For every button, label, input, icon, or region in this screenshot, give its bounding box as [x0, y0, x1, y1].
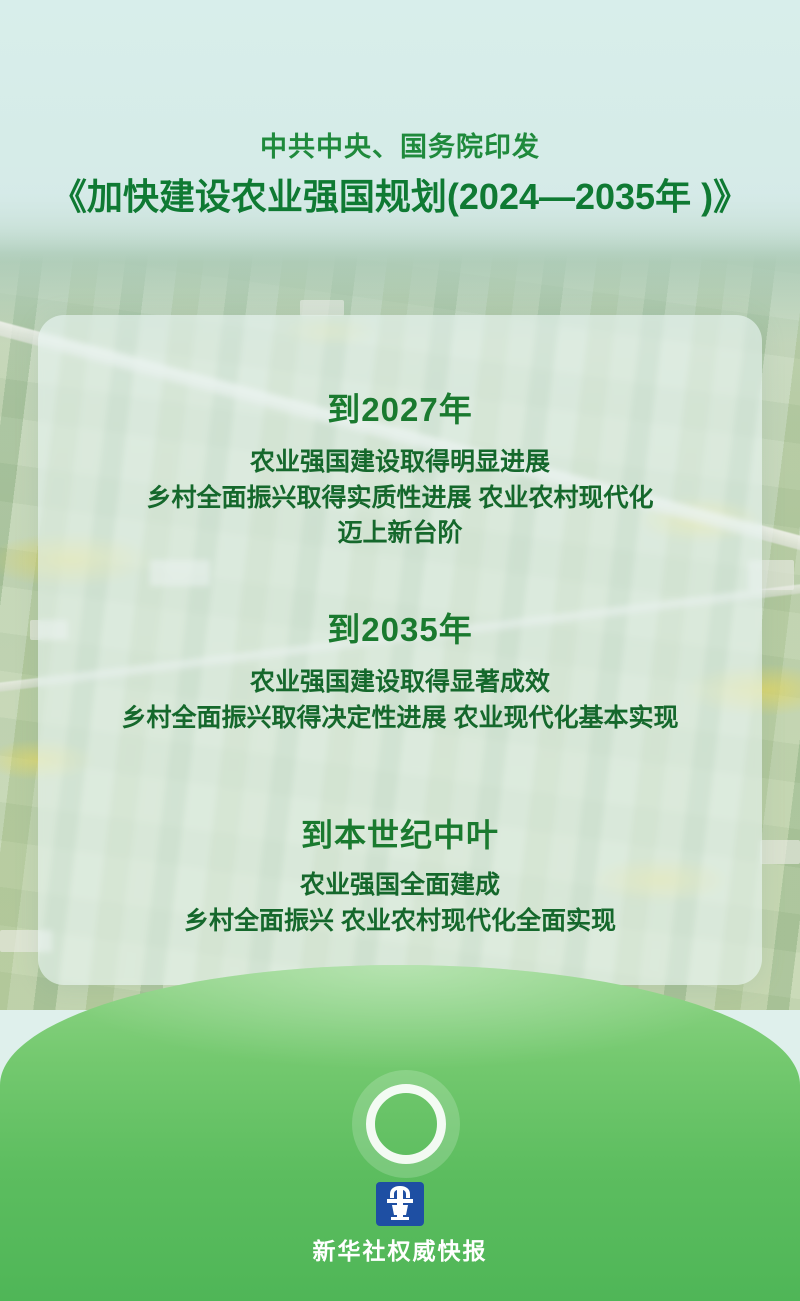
milestone-line: 农业强国建设取得显著成效	[38, 665, 762, 701]
kicker-text: 中共中央、国务院印发	[0, 133, 800, 163]
milestone-title: 到2027年	[38, 383, 762, 431]
poster-root: 中共中央、国务院印发 《加快建设农业强国规划(2024—2035年 )》 到20…	[0, 0, 800, 1301]
page-title: 《加快建设农业强国规划(2024—2035年 )》	[0, 177, 800, 217]
xinhua-torch-logo-icon	[376, 1182, 424, 1226]
milestone-lines: 农业强国建设取得显著成效 乡村全面振兴取得决定性进展 农业现代化基本实现	[38, 665, 762, 736]
milestone-line: 乡村全面振兴取得决定性进展 农业现代化基本实现	[38, 701, 762, 737]
milestone-line: 乡村全面振兴取得实质性进展 农业农村现代化	[38, 481, 762, 517]
milestone-block-2035: 到2035年 农业强国建设取得显著成效 乡村全面振兴取得决定性进展 农业现代化基…	[38, 603, 762, 736]
milestone-line: 农业强国全面建成	[38, 868, 762, 904]
milestones-card: 到2027年 农业强国建设取得明显进展 乡村全面振兴取得实质性进展 农业农村现代…	[38, 315, 762, 985]
brand-name: 新华社权威快报	[0, 1232, 800, 1266]
milestone-title: 到2035年	[38, 603, 762, 651]
milestone-lines: 农业强国建设取得明显进展 乡村全面振兴取得实质性进展 农业农村现代化 迈上新台阶	[38, 445, 762, 552]
milestone-line: 迈上新台阶	[38, 516, 762, 552]
milestone-line: 乡村全面振兴 农业农村现代化全面实现	[38, 904, 762, 940]
poster-header: 中共中央、国务院印发 《加快建设农业强国规划(2024—2035年 )》	[0, 0, 800, 262]
milestone-lines: 农业强国全面建成 乡村全面振兴 农业农村现代化全面实现	[38, 868, 762, 939]
brand-logo-wrap	[0, 1182, 800, 1231]
milestone-block-midcentury: 到本世纪中叶 农业强国全面建成 乡村全面振兴 农业农村现代化全面实现	[38, 810, 762, 939]
milestone-line: 农业强国建设取得明显进展	[38, 445, 762, 481]
milestone-title: 到本世纪中叶	[38, 810, 762, 856]
ring-decoration-icon	[366, 1084, 446, 1164]
milestone-block-2027: 到2027年 农业强国建设取得明显进展 乡村全面振兴取得实质性进展 农业农村现代…	[38, 383, 762, 552]
